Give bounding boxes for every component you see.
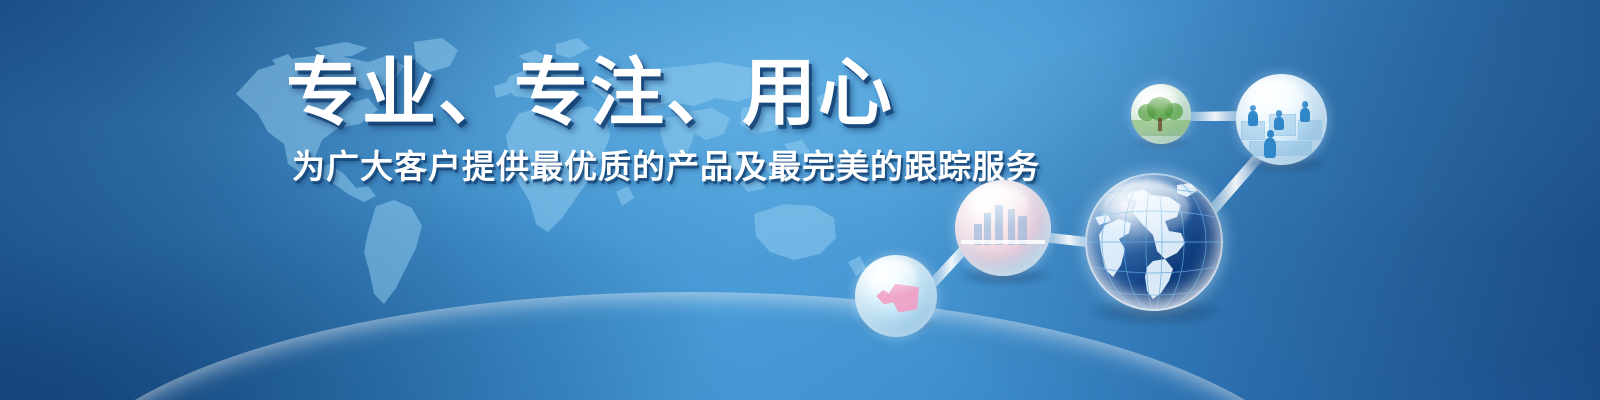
people-office-sphere	[1236, 74, 1327, 165]
tree-canopy-right-icon	[1165, 103, 1183, 120]
page-subtitle: 为广大客户提供最优质的产品及最完美的跟踪服务	[292, 150, 1040, 183]
map-orb-shadow	[858, 314, 936, 334]
globe-shadow	[1090, 296, 1222, 326]
industry-orb-shadow	[958, 264, 1050, 286]
promo-banner: 专业、专注、用心 为广大客户提供最优质的产品及最完美的跟踪服务	[0, 0, 1600, 400]
map-sphere	[855, 255, 937, 337]
globe-rim-highlight	[1085, 173, 1223, 311]
tree-canopy-icon	[1147, 97, 1173, 121]
green-orb-shadow	[1134, 134, 1190, 150]
industry-sphere	[955, 180, 1051, 276]
nature-sphere	[1131, 84, 1191, 144]
people-orb-shadow	[1240, 152, 1326, 174]
banner-copy: 专业、专注、用心 为广大客户提供最优质的产品及最完美的跟踪服务	[286, 56, 1040, 183]
tree-canopy-small-icon	[1138, 104, 1156, 121]
tree-trunk-icon	[1158, 118, 1162, 131]
grass-patch	[1131, 120, 1191, 136]
planet-horizon-edge	[50, 292, 1330, 400]
map-region-icon	[876, 280, 919, 314]
planet-horizon-glow	[50, 292, 1330, 400]
page-title: 专业、专注、用心	[286, 56, 1040, 130]
office-scene	[1236, 74, 1327, 165]
main-globe-sphere	[1085, 173, 1223, 311]
